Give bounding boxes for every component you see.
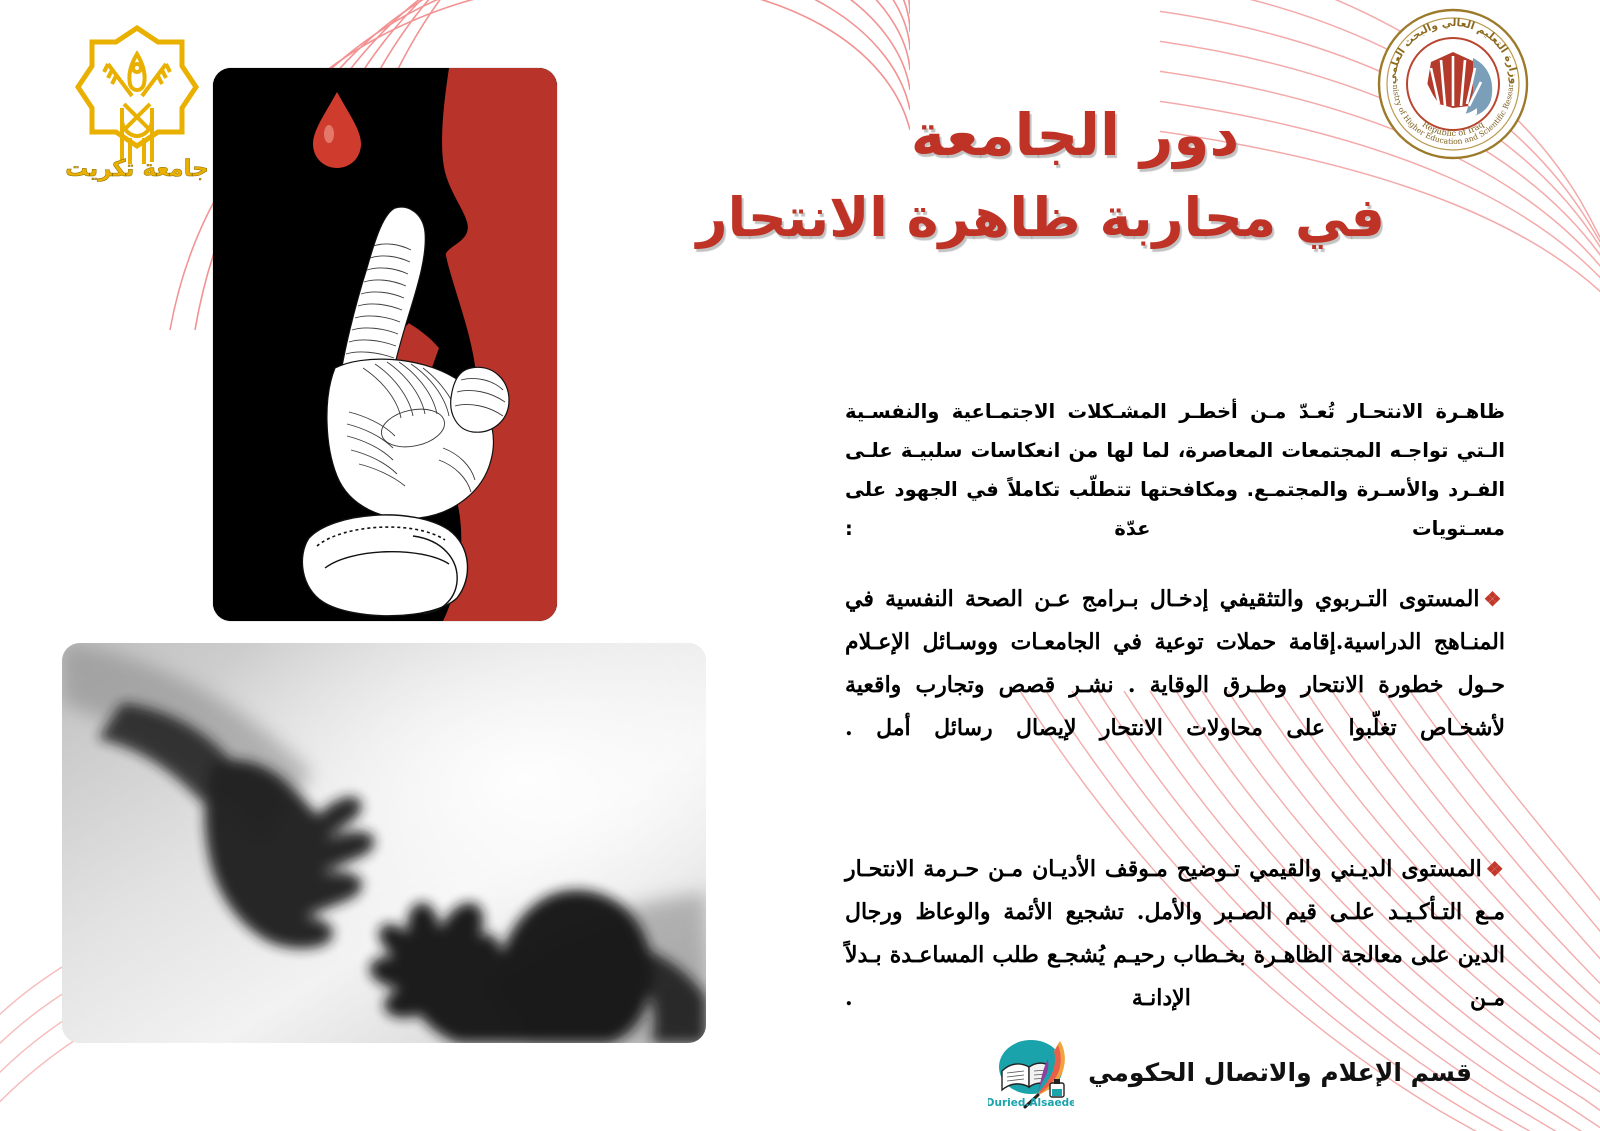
poster-canvas: جامعة تكريت: [0, 0, 1600, 1131]
intro-block: ظاهـرة الانتحـار تُعـدّ مـن أخطـر المشـك…: [845, 392, 1505, 548]
department-label: قسم الإعلام والاتصال الحكومي: [1088, 1058, 1472, 1087]
title-line-2: في محاربة ظاهرة الانتحار: [765, 182, 1385, 255]
designer-name-label: Duried.Alsaede: [988, 1097, 1074, 1109]
bullet-text-educational: المستوى التـربوي والتثقيفي إدخـال بـرامج…: [845, 586, 1505, 741]
bullet-marker-icon: ❖: [1483, 587, 1505, 611]
title-line-1: دور الجامعة: [765, 96, 1385, 174]
intro-paragraph: ظاهـرة الانتحـار تُعـدّ مـن أخطـر المشـك…: [845, 392, 1505, 548]
page-title: دور الجامعة في محاربة ظاهرة الانتحار: [765, 96, 1385, 255]
bullet-text-religious: المستوى الديـني والقيمي تـوضيح مـوقف الأ…: [845, 856, 1505, 1011]
bullet-marker-icon: ❖: [1486, 857, 1505, 881]
university-logo: جامعة تكريت: [62, 12, 212, 182]
ministry-seal: وزارة التعليم العالي والبحث العلمي Repub…: [1377, 8, 1529, 160]
bullet-item-religious: ❖المستوى الديـني والقيمي تـوضيح مـوقف ال…: [845, 848, 1505, 1020]
silence-gesture-illustration: [213, 68, 557, 621]
designer-logo: Duried.Alsaede: [988, 1035, 1074, 1109]
footer: قسم الإعلام والاتصال الحكومي: [988, 1035, 1472, 1109]
hands-on-glass-photo: [62, 643, 706, 1043]
university-name-ar: جامعة تكريت: [65, 156, 209, 182]
bullet-item-educational: ❖المستوى التـربوي والتثقيفي إدخـال بـرام…: [845, 578, 1505, 750]
